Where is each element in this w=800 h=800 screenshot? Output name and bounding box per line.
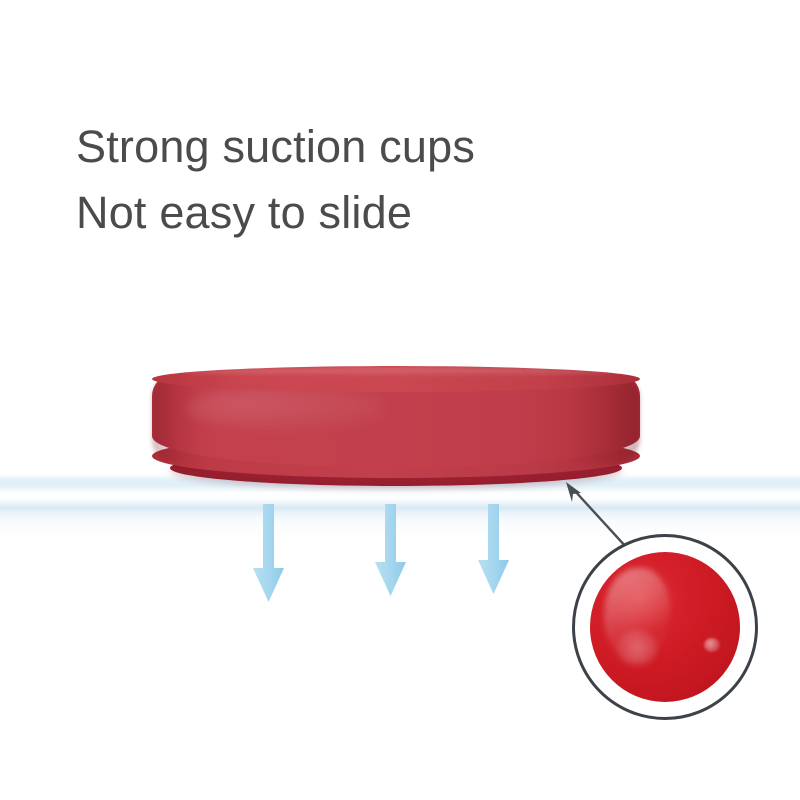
- suction-force-arrow-3-shape: [478, 504, 509, 594]
- headline-block: Strong suction cups Not easy to slide: [76, 114, 696, 246]
- bowl-sheen-highlight: [186, 386, 386, 430]
- headline-line-2: Not easy to slide: [76, 180, 696, 246]
- magnifier-edge-highlight: [704, 638, 720, 652]
- suction-force-arrow-2-shape: [375, 504, 406, 596]
- red-suction-bowl-base: [146, 366, 646, 490]
- suction-force-arrow-2: [375, 504, 406, 596]
- suction-force-arrow-3: [478, 504, 509, 594]
- bowl-rim-highlight: [182, 368, 612, 377]
- suction-force-arrow-1-shape: [253, 504, 284, 602]
- suction-force-arrow-1: [253, 504, 284, 602]
- headline-line-1: Strong suction cups: [76, 114, 696, 180]
- suction-cup-magnifier: [572, 534, 758, 720]
- magnifier-gloss-highlight-secondary: [616, 630, 658, 666]
- bowl-left-shading: [152, 376, 196, 464]
- bowl-right-shading: [572, 376, 640, 464]
- product-feature-illustration: Strong suction cups Not easy to slide: [0, 0, 800, 800]
